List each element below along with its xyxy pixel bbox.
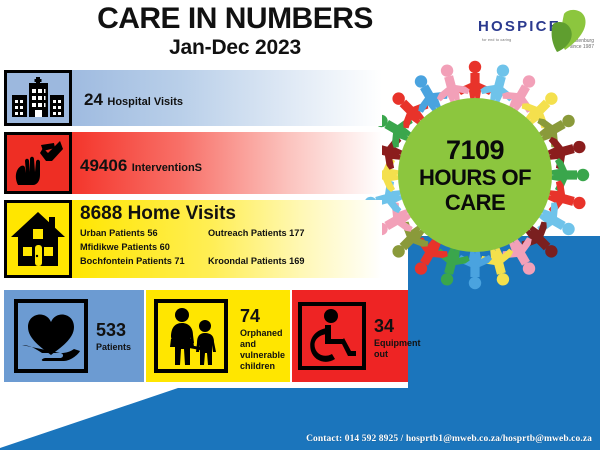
panel-caption-orphaned: Orphaned and vulnerable children xyxy=(240,328,285,372)
home-visits-line1-right: Outreach Patients 177 xyxy=(208,228,305,238)
heart-in-hand-icon xyxy=(14,299,88,373)
stat-value-interventions: 49406 xyxy=(80,156,127,175)
contact-footer: Contact: 014 592 8925 / hosprtb1@mweb.co… xyxy=(0,434,600,444)
hospice-logo: HOSPICE for end to caring rustenburg sin… xyxy=(478,8,596,56)
hospital-building-icon xyxy=(4,70,72,126)
panel-patients: 533 Patients xyxy=(4,290,144,382)
stat-row-interventions: 49406 InterventionS xyxy=(0,132,600,194)
panel-value-orphaned: 74 xyxy=(240,306,260,327)
stat-caption-interventions: InterventionS xyxy=(132,162,202,174)
poster-header: CARE IN NUMBERS Jan-Dec 2023 HOSPICE for… xyxy=(0,0,600,70)
panel-caption-patients: Patients xyxy=(96,342,131,353)
panel-value-patients: 533 xyxy=(96,320,126,341)
home-visits-caption: Home Visits xyxy=(128,203,236,224)
home-visits-line3-right: Kroondal Patients 169 xyxy=(208,256,305,266)
page-subtitle: Jan-Dec 2023 xyxy=(0,36,470,60)
stat-caption-hospital: Hospital Visits xyxy=(107,96,183,108)
infographic-poster: CARE IN NUMBERS Jan-Dec 2023 HOSPICE for… xyxy=(0,0,600,450)
leaf-heart-icon xyxy=(540,8,590,59)
panel-orphaned-children: 74 Orphaned and vulnerable children xyxy=(146,290,290,382)
home-visits-line2-left: Mfidikwe Patients 60 xyxy=(80,242,170,252)
stat-label-hospital: 24 Hospital Visits xyxy=(84,90,183,110)
helping-hands-icon xyxy=(4,132,72,194)
stat-row-home-visits: 8688 Home Visits Urban Patients 56 Outre… xyxy=(0,200,600,278)
stat-row-hospital-visits: 24 Hospital Visits xyxy=(0,70,600,126)
stat-label-interventions: 49406 InterventionS xyxy=(80,156,202,176)
house-icon xyxy=(4,200,72,278)
panel-equipment-out: 34 Equipment out xyxy=(292,290,408,382)
home-visits-value: 8688 xyxy=(80,203,122,224)
wheelchair-accessibility-icon xyxy=(298,302,366,370)
two-children-icon xyxy=(154,299,228,373)
page-title: CARE IN NUMBERS xyxy=(0,3,470,35)
logo-tagline: for end to caring xyxy=(482,38,511,42)
stat-value-hospital: 24 xyxy=(84,90,103,109)
home-visits-line1-left: Urban Patients 56 xyxy=(80,228,158,238)
panel-value-equipment: 34 xyxy=(374,316,394,337)
home-visits-line3-left: Bochfontein Patients 71 xyxy=(80,256,185,266)
panel-caption-equipment: Equipment out xyxy=(374,338,421,360)
home-visits-heading: 8688 Home Visits xyxy=(80,203,236,225)
